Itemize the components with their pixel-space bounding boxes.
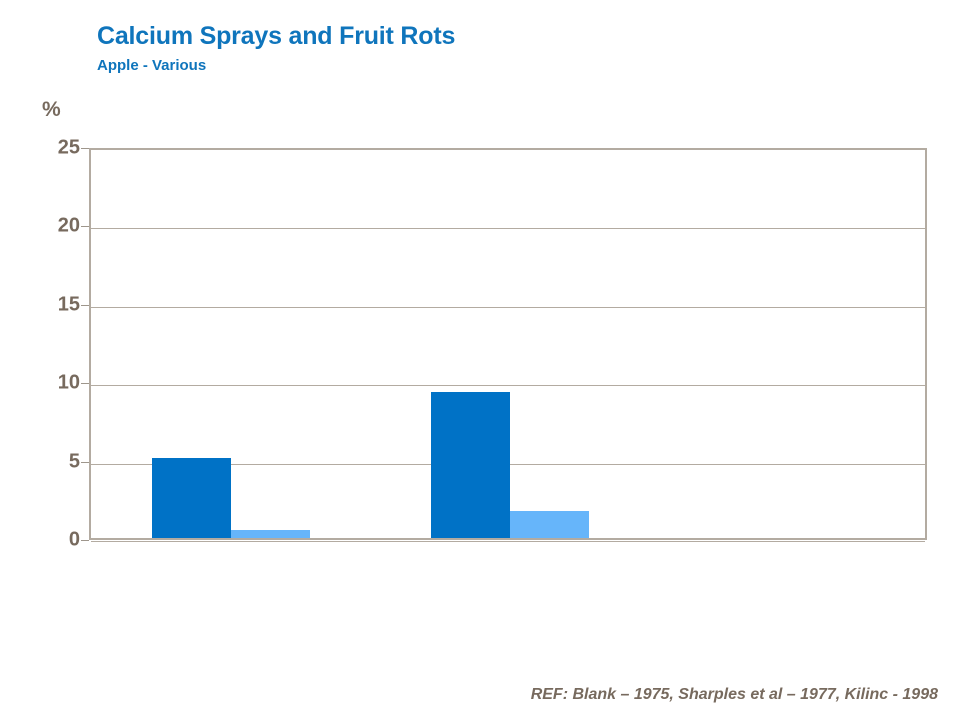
y-axis-tick-labels: 0510152025 [20,148,80,540]
y-tick-mark [81,383,89,384]
gridline [91,541,925,542]
y-tick-label: 25 [28,137,80,160]
gridline [91,228,925,229]
gridline [91,307,925,308]
y-tick-label: 5 [28,450,80,473]
bar-control [431,392,510,538]
reference-footnote: REF: Blank – 1975, Sharples et al – 1977… [531,686,938,704]
y-tick-mark [81,540,89,541]
y-tick-mark [81,226,89,227]
page-subtitle: Apple - Various [97,57,206,74]
gridline [91,385,925,386]
y-tick-mark [81,148,89,149]
bar-calcium-sprays [510,511,589,538]
y-axis-unit-label: % [42,98,61,122]
y-tick-label: 15 [28,293,80,316]
plot-area [89,148,927,540]
y-tick-mark [81,462,89,463]
y-tick-label: 20 [28,215,80,238]
bar-calcium-sprays [231,530,310,538]
page-title: Calcium Sprays and Fruit Rots [97,22,455,51]
y-tick-mark [81,305,89,306]
y-tick-label: 10 [28,372,80,395]
y-tick-label: 0 [28,529,80,552]
bar-control [152,458,231,538]
